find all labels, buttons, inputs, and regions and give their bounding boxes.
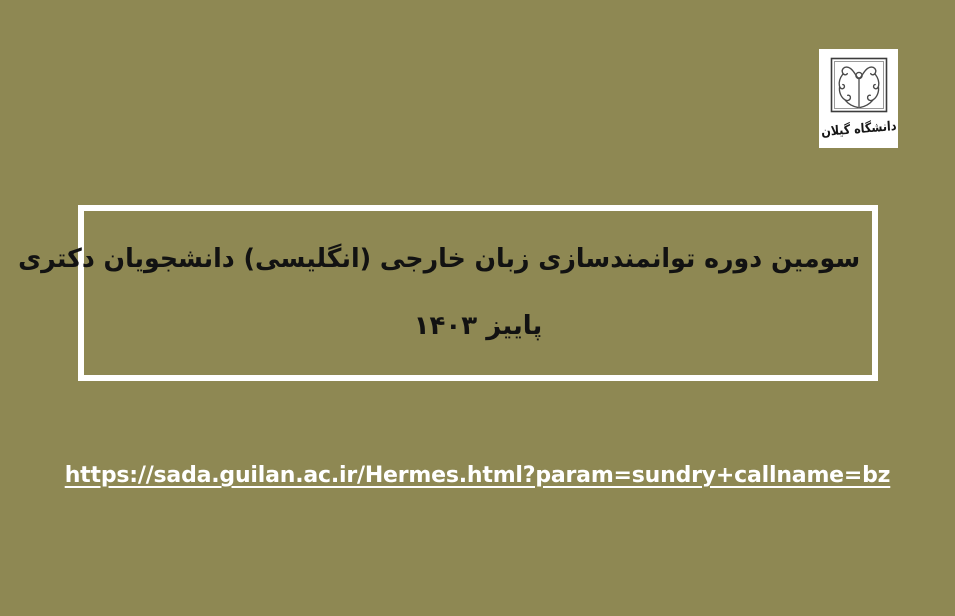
university-wordmark-text: دانشگاه گیلان bbox=[820, 119, 896, 138]
registration-link[interactable]: https://sada.guilan.ac.ir/Hermes.html?pa… bbox=[65, 462, 891, 490]
course-title: سومین دوره توانمندسازی زبان خارجی (انگلی… bbox=[96, 244, 860, 275]
guilan-university-emblem-icon bbox=[828, 55, 890, 115]
registration-link-row: https://sada.guilan.ac.ir/Hermes.html?pa… bbox=[0, 462, 955, 490]
university-logo: دانشگاه گیلان bbox=[819, 49, 898, 148]
university-wordmark: دانشگاه گیلان bbox=[824, 116, 894, 142]
announcement-poster: دانشگاه گیلان سومین دوره توانمندسازی زبا… bbox=[0, 0, 955, 616]
headline-frame: سومین دوره توانمندسازی زبان خارجی (انگلی… bbox=[78, 205, 878, 381]
course-term: پاییز ۱۴۰۳ bbox=[84, 311, 872, 342]
